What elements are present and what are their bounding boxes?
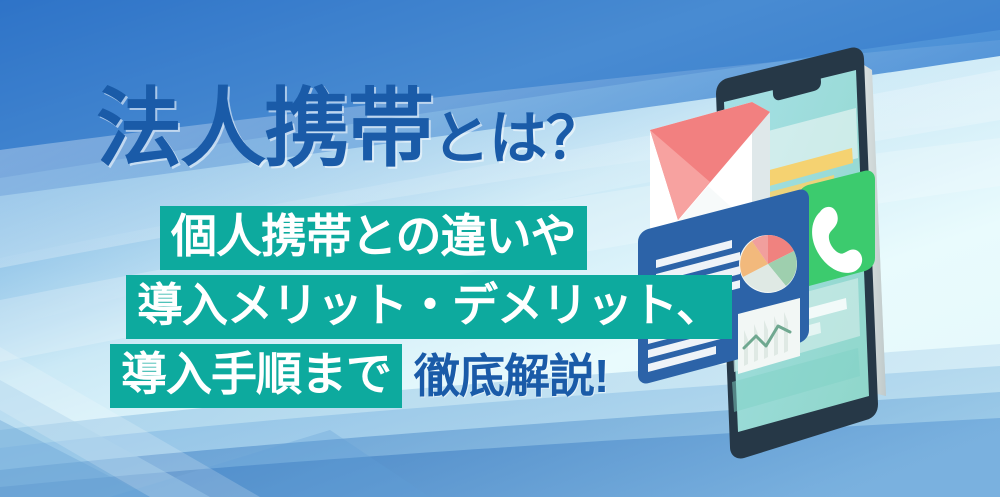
subtitle-chip-3: 導入手順まで	[110, 344, 402, 408]
page-title-main: 法人携帯	[96, 81, 432, 177]
subtitle-chip-1: 個人携帯との違いや	[160, 206, 587, 270]
subtitle-line-2: 導入メリット・デメリット、	[126, 275, 732, 339]
page-title-suffix: とは？	[432, 106, 603, 171]
headline-block: 法人携帯とは？ 個人携帯との違いや 導入メリット・デメリット、 導入手順まで徹底…	[0, 0, 680, 497]
phone-call-icon-group	[798, 170, 875, 286]
subtitle-chip-2: 導入メリット・デメリット、	[126, 275, 732, 339]
hero-banner: 法人携帯とは？ 個人携帯との違いや 導入メリット・デメリット、 導入手順まで徹底…	[0, 0, 1000, 497]
pie-chart	[739, 235, 797, 293]
page-title: 法人携帯とは？	[96, 86, 603, 172]
subtitle-line-3: 導入手順まで徹底解説!	[110, 344, 608, 408]
subtitle-accent-3: 徹底解説!	[402, 353, 608, 399]
subtitle-line-1: 個人携帯との違いや	[160, 206, 587, 270]
